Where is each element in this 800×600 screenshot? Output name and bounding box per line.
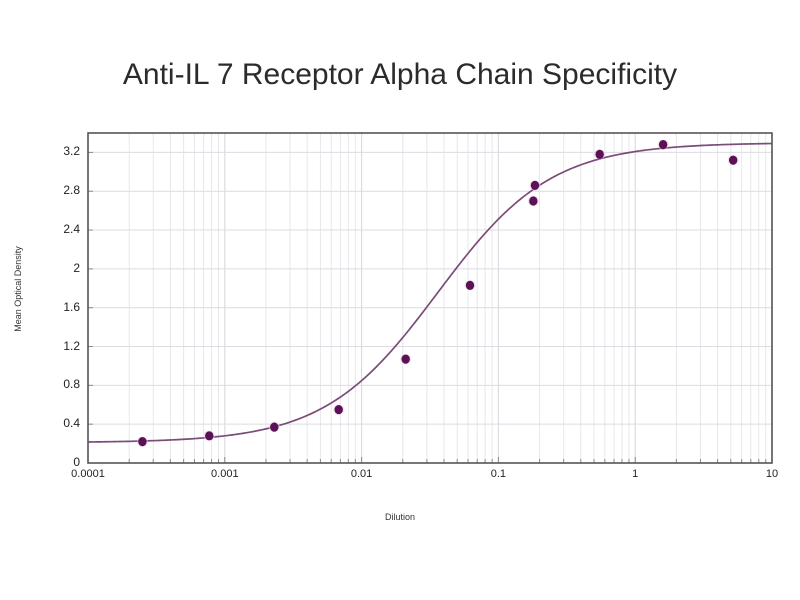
data-point: [528, 196, 539, 206]
data-point: [269, 422, 280, 432]
plot-frame: [88, 133, 772, 463]
y-tick-label: 3.2: [38, 144, 80, 158]
y-tick-label: 0: [38, 455, 80, 469]
x-tick-label: 1: [595, 468, 675, 480]
major-vertical-gridlines: [88, 133, 772, 463]
y-tick-label: 1.2: [38, 339, 80, 353]
data-point: [594, 149, 605, 159]
y-tick-label: 2.8: [38, 183, 80, 197]
data-point: [464, 280, 475, 290]
fit-curve: [88, 144, 772, 442]
x-tick-label: 0.001: [185, 468, 265, 480]
y-tick-label: 1.6: [38, 300, 80, 314]
y-tick-label: 2: [38, 261, 80, 275]
data-point: [400, 354, 411, 364]
data-point: [137, 436, 148, 446]
y-tick-label: 0.4: [38, 416, 80, 430]
data-point: [728, 155, 739, 165]
data-point: [658, 139, 669, 149]
x-tick-label: 0.01: [322, 468, 402, 480]
data-point: [333, 404, 344, 414]
y-tick-label: 0.8: [38, 377, 80, 391]
data-point: [529, 180, 540, 190]
data-point: [204, 431, 215, 441]
horizontal-gridlines: [88, 152, 772, 424]
x-tick-label: 0.1: [458, 468, 538, 480]
x-tick-label: 0.0001: [48, 468, 128, 480]
chart-canvas: Anti-IL 7 Receptor Alpha Chain Specifici…: [0, 0, 800, 600]
x-tick-label: 10: [732, 468, 800, 480]
y-tick-label: 2.4: [38, 222, 80, 236]
plot-area: [0, 0, 800, 600]
